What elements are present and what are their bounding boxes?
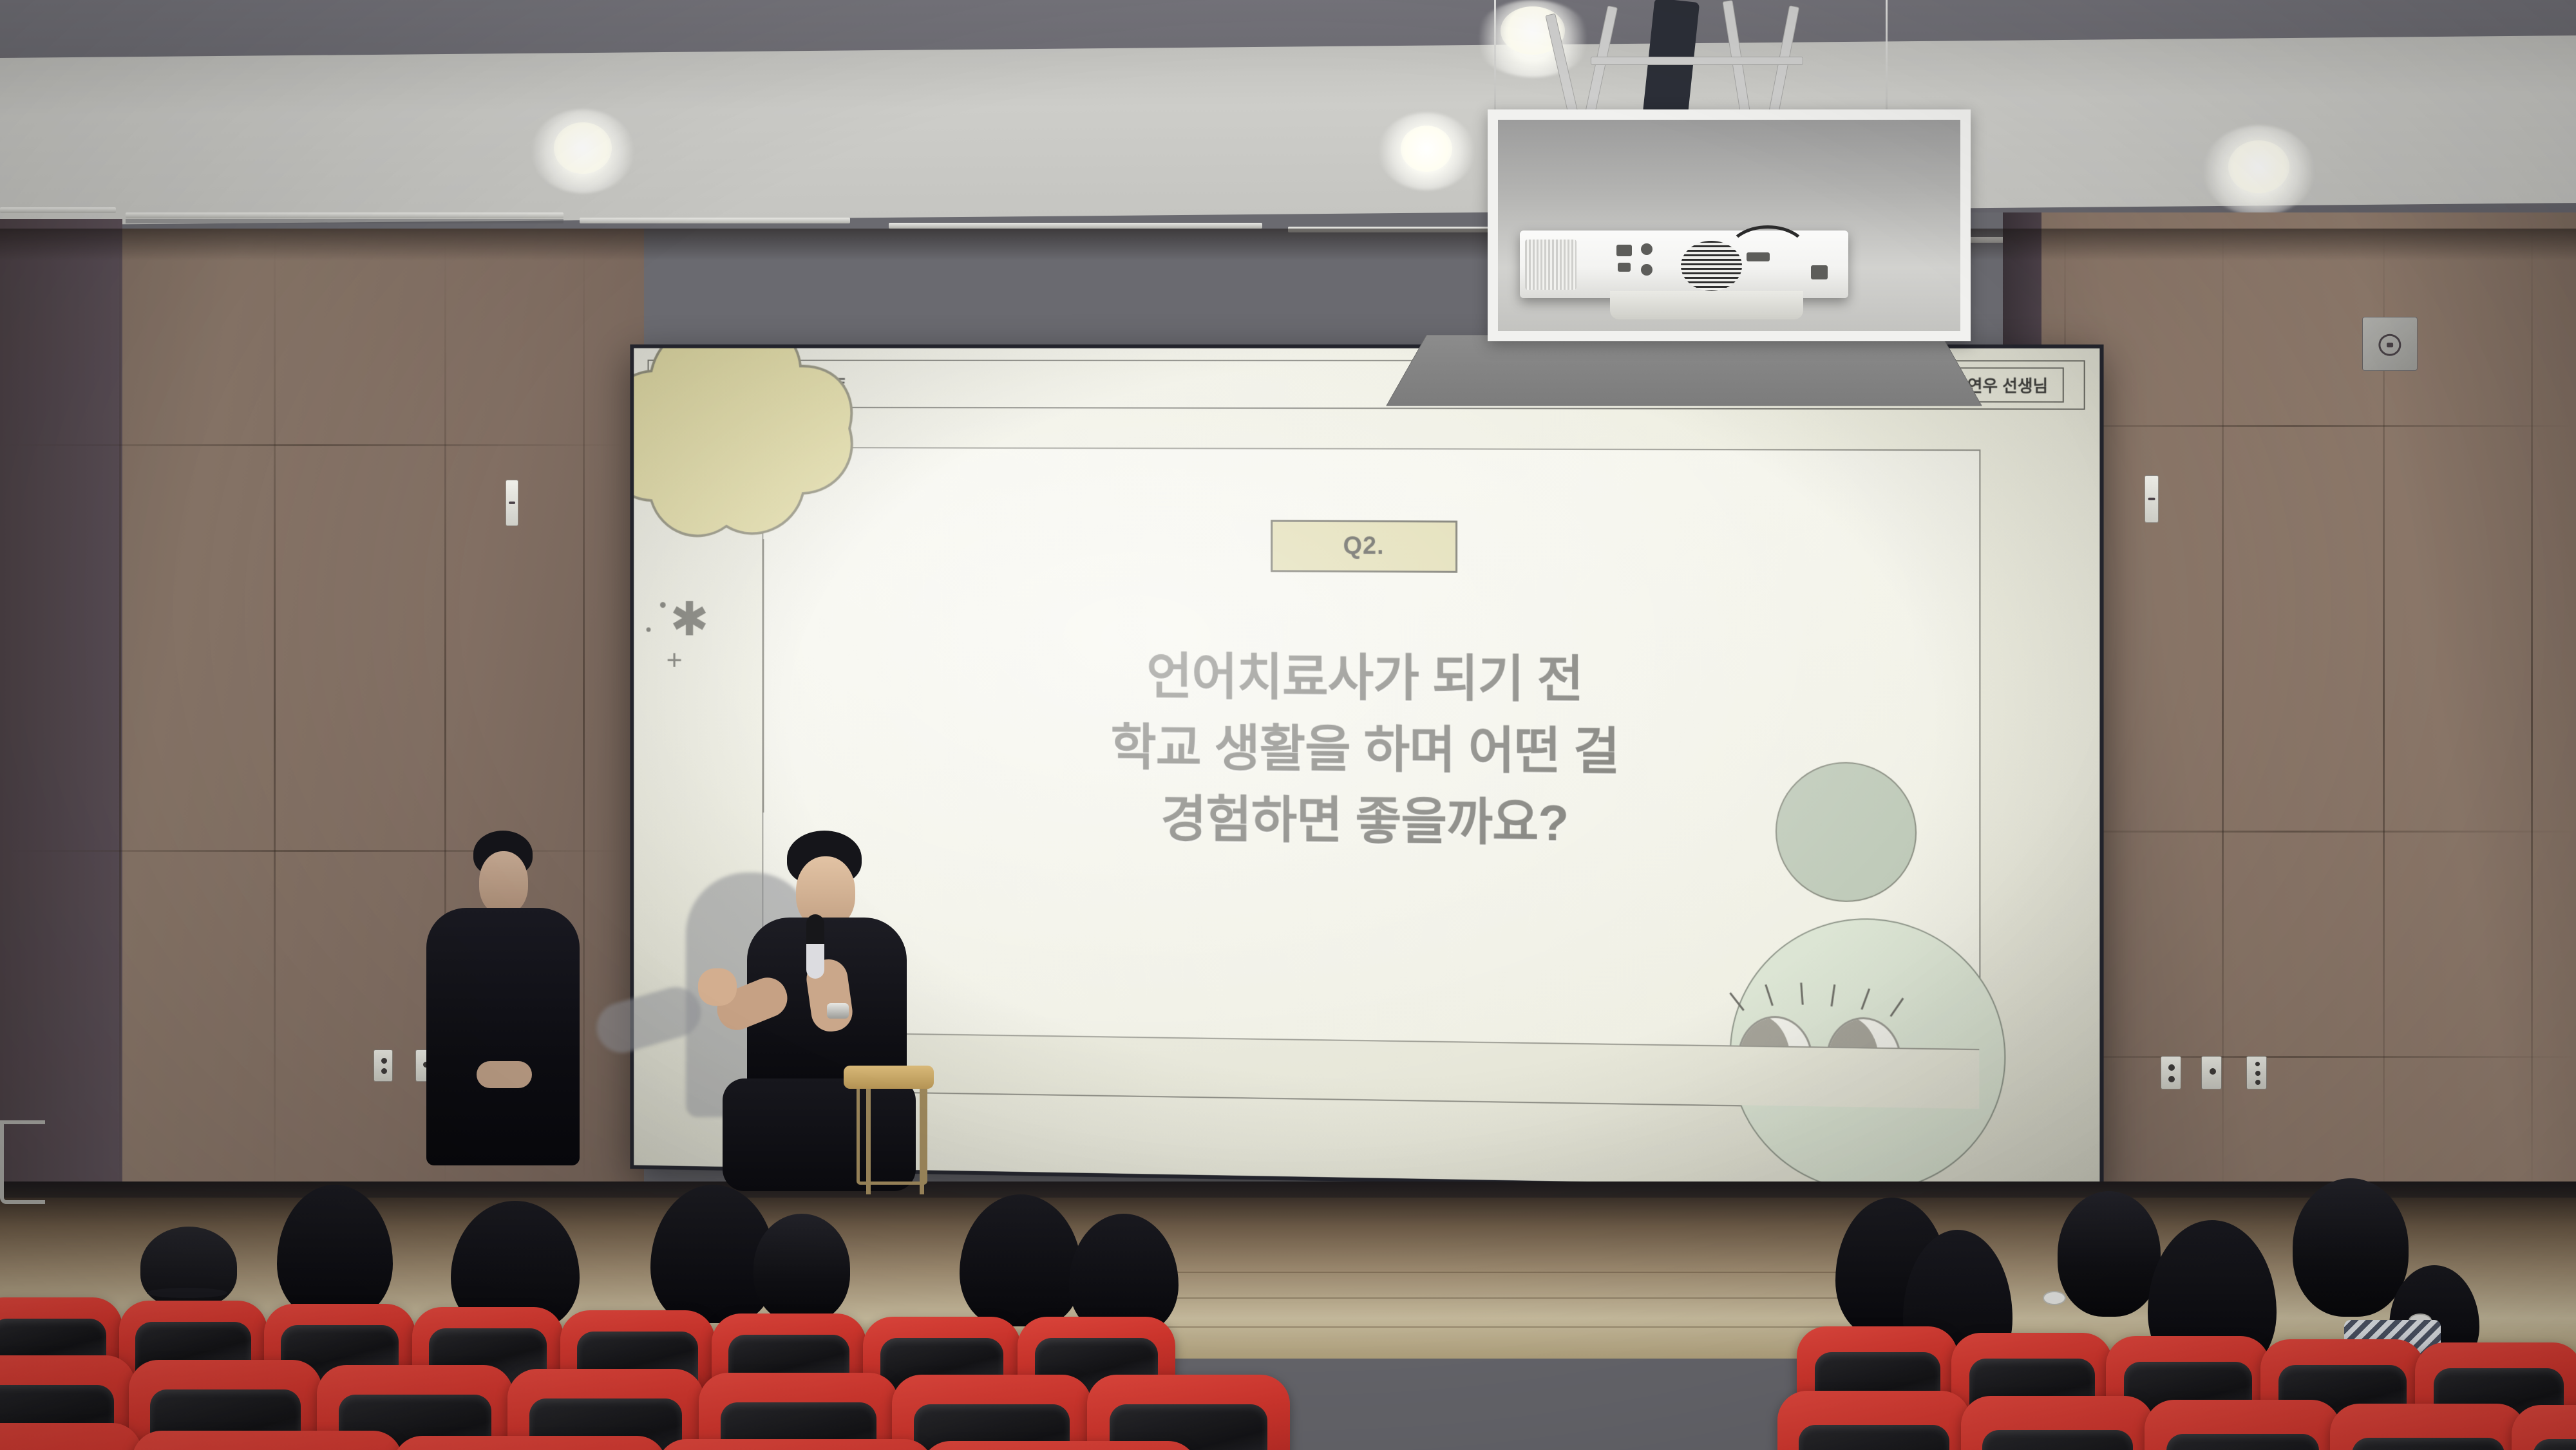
sparkle-dot-1 bbox=[660, 602, 666, 608]
outlet-plate-a[interactable] bbox=[2161, 1056, 2181, 1089]
projector-lens-hood bbox=[1610, 291, 1803, 319]
wall-plate-left bbox=[506, 480, 518, 526]
projector-power-cable bbox=[1726, 225, 1810, 283]
eyelash-4 bbox=[1830, 984, 1835, 1006]
projector-wire-right bbox=[1886, 0, 1888, 122]
eyelash-3 bbox=[1800, 983, 1803, 1004]
outlet-plate-b[interactable] bbox=[2201, 1056, 2222, 1089]
outlet-hole-d2 bbox=[381, 1068, 387, 1074]
outlet-hole-c2 bbox=[2255, 1071, 2260, 1076]
eyelash-5 bbox=[1861, 988, 1870, 1010]
downlight-2-core bbox=[1401, 126, 1452, 172]
sparkle-plus-icon: + bbox=[667, 646, 683, 675]
ceiling-rail-shadow-2 bbox=[126, 219, 563, 223]
projector-unit bbox=[1520, 231, 1848, 298]
hair-tie-1 bbox=[2043, 1291, 2066, 1305]
sage-circle-decoration bbox=[1776, 762, 1917, 903]
wall-edge-left-dark bbox=[0, 219, 122, 1223]
wall-plate-right bbox=[2145, 475, 2159, 523]
seat-row2-6[interactable] bbox=[892, 1375, 1092, 1450]
sparkle-dot-2 bbox=[647, 627, 651, 632]
seat-right-row1-3[interactable] bbox=[2145, 1400, 2341, 1450]
wall-top-shadow bbox=[0, 229, 2576, 261]
question-number-badge: Q2. bbox=[1271, 520, 1457, 573]
audience-head-9 bbox=[2058, 1191, 2161, 1317]
audience-seating-area bbox=[0, 1178, 2576, 1450]
standing-speaker bbox=[412, 824, 625, 1165]
projector-port-vga bbox=[1641, 243, 1653, 255]
projector-vent-grill bbox=[1525, 240, 1577, 290]
standing-speaker-head bbox=[479, 851, 528, 914]
flower-blob-decoration bbox=[634, 348, 860, 552]
seat-row1-5[interactable] bbox=[921, 1441, 1198, 1450]
audience-head-5 bbox=[960, 1194, 1082, 1326]
wall-seam-left-2 bbox=[274, 235, 276, 1201]
seat-back bbox=[2166, 1434, 2320, 1450]
stool-leg-back bbox=[920, 1082, 924, 1194]
audience-head-1 bbox=[277, 1185, 393, 1317]
projector-scissor-crossbar bbox=[1591, 57, 1803, 65]
speaker-ring-icon bbox=[2378, 334, 2401, 355]
wall-plate-left-slot bbox=[509, 502, 515, 504]
seated-speaker-hand-left bbox=[698, 968, 737, 1006]
projector-port-usb bbox=[1618, 263, 1631, 272]
downlight-4-core bbox=[2228, 140, 2289, 193]
seat-right-row1-4[interactable] bbox=[2330, 1404, 2526, 1450]
seat-row1-4[interactable] bbox=[657, 1439, 934, 1450]
question-line-1: 언어치료사가 되기 전 bbox=[763, 639, 1979, 719]
seat-row1-3[interactable] bbox=[393, 1436, 667, 1450]
wristwatch bbox=[827, 1003, 849, 1019]
projector-ceiling-tray bbox=[1386, 335, 1982, 406]
eyelash-6 bbox=[1890, 997, 1904, 1017]
outlet-hole-b1 bbox=[2210, 1068, 2216, 1075]
outlet-hole-c3 bbox=[2255, 1080, 2260, 1085]
wall-plate-right-slot bbox=[2148, 498, 2155, 500]
seat-row2-5[interactable] bbox=[699, 1373, 898, 1450]
seat-back bbox=[1799, 1425, 1949, 1450]
outlet-hole-a2 bbox=[2168, 1076, 2175, 1082]
eyelash-1 bbox=[1729, 992, 1745, 1011]
outlet-plate-c[interactable] bbox=[2246, 1056, 2267, 1089]
projector-port-audio bbox=[1641, 264, 1653, 276]
wall-seam-right-2 bbox=[2222, 219, 2224, 1210]
audience-cap-brim bbox=[147, 1288, 227, 1298]
outlet-hole-a1 bbox=[2168, 1064, 2175, 1071]
seat-row1-1[interactable] bbox=[0, 1423, 142, 1450]
seat-back bbox=[2352, 1438, 2505, 1450]
flower-stem bbox=[762, 539, 764, 813]
wall-seam-left-h1 bbox=[0, 444, 625, 446]
standing-speaker-hands bbox=[477, 1061, 532, 1088]
ceiling-main-plane bbox=[0, 35, 2576, 225]
ceiling-rail-1 bbox=[0, 207, 116, 213]
wall-seam-left-1 bbox=[119, 232, 121, 1210]
outlet-plate-d[interactable] bbox=[374, 1050, 393, 1082]
stool-leg-front bbox=[866, 1082, 871, 1194]
seat-back bbox=[1982, 1430, 2133, 1450]
microphone bbox=[806, 914, 824, 979]
seat-right-row1-5[interactable] bbox=[2512, 1405, 2576, 1450]
seat-row2-7[interactable] bbox=[1087, 1375, 1290, 1450]
wall-seam-right-4 bbox=[2531, 219, 2533, 1210]
auditorium-scene: 언어치료학과 토크콘서트 세복, 이연우 선생님 Q2. 언어치료사가 되기 전… bbox=[0, 0, 2576, 1450]
audience-head-11 bbox=[2293, 1178, 2409, 1317]
stool-cushion bbox=[844, 1066, 934, 1089]
projector-port-lan bbox=[1616, 245, 1632, 256]
question-line-2: 학교 생활을 하며 어떤 걸 bbox=[763, 710, 1979, 791]
eyelash-2 bbox=[1765, 984, 1774, 1006]
sparkle-star-icon: ✱ bbox=[670, 596, 708, 643]
projector-wire-left bbox=[1494, 0, 1496, 122]
seat-right-row1-1[interactable] bbox=[1777, 1391, 1971, 1450]
projector-port-power bbox=[1811, 265, 1828, 279]
downlight-1-core bbox=[554, 122, 612, 174]
seat-back bbox=[2533, 1439, 2576, 1450]
speaker-unit-right bbox=[2362, 317, 2418, 371]
seat-row1-2[interactable] bbox=[132, 1431, 402, 1450]
audience-head-4 bbox=[753, 1214, 850, 1323]
ceiling-rail-3 bbox=[580, 218, 850, 223]
audience-head-6 bbox=[1069, 1214, 1179, 1333]
standing-speaker-torso bbox=[426, 908, 580, 1165]
ceiling-rail-2 bbox=[126, 212, 563, 218]
ceiling-rail-4 bbox=[889, 223, 1262, 229]
seat-right-row1-2[interactable] bbox=[1961, 1396, 2154, 1450]
outlet-hole-d1 bbox=[381, 1058, 387, 1064]
outlet-hole-c1 bbox=[2255, 1062, 2260, 1066]
